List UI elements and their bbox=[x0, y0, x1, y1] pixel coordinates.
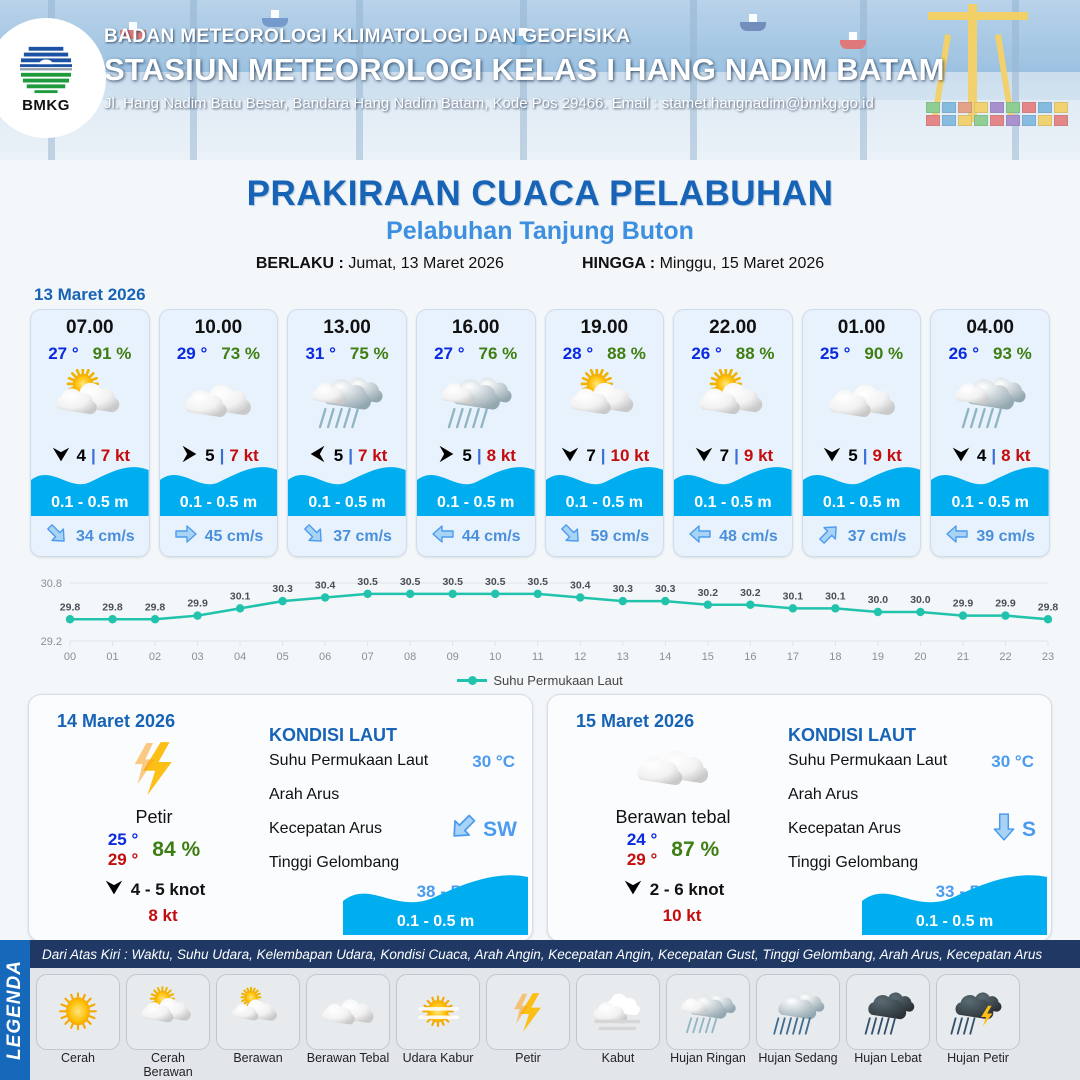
current-speed: 34 cm/s bbox=[76, 528, 135, 546]
sun-cloud-icon bbox=[126, 974, 210, 1050]
card-current-row: 48 cm/s bbox=[674, 522, 792, 551]
daily-forecast-panel: 14 Maret 2026 Petir25 °29 °84 %4 - 5 kno… bbox=[28, 694, 533, 942]
card-humidity: 90 % bbox=[864, 344, 903, 364]
svg-text:30.3: 30.3 bbox=[613, 583, 634, 595]
current-speed-row: Kecepatan Arus33 - 56 cm/s bbox=[788, 820, 1038, 854]
hingga-block: HINGGA : Minggu, 15 Maret 2026 bbox=[582, 255, 824, 273]
light-rain-icon bbox=[666, 974, 750, 1050]
partly-cloudy-icon bbox=[31, 367, 149, 435]
current-speed: 37 cm/s bbox=[333, 528, 392, 546]
svg-text:30.1: 30.1 bbox=[783, 590, 804, 602]
card-current-row: 39 cm/s bbox=[931, 522, 1049, 551]
moderate-rain-icon bbox=[756, 974, 840, 1050]
panel-wave-graphic: 0.1 - 0.5 m bbox=[862, 871, 1047, 935]
card-temperature: 26 ° bbox=[949, 344, 979, 364]
wave-height: 0.1 - 0.5 m bbox=[803, 462, 921, 516]
sst-value: 30 °C bbox=[472, 752, 515, 772]
svg-text:21: 21 bbox=[957, 651, 969, 663]
svg-text:08: 08 bbox=[404, 651, 416, 663]
wind-direction-arrow-icon bbox=[103, 876, 125, 903]
thunderstorm-rain-icon bbox=[936, 974, 1020, 1050]
svg-text:30.1: 30.1 bbox=[230, 590, 251, 602]
legend-item-label: Berawan Tebal bbox=[306, 1051, 390, 1065]
card-time: 13.00 bbox=[288, 317, 406, 339]
svg-text:13: 13 bbox=[617, 651, 629, 663]
svg-text:07: 07 bbox=[362, 651, 374, 663]
panel-gust: 10 kt bbox=[586, 906, 778, 926]
legend-item-label: Cerah Berawan bbox=[126, 1051, 210, 1079]
sun-icon bbox=[36, 974, 120, 1050]
panel-humidity: 84 % bbox=[152, 838, 200, 862]
wave-height: 0.1 - 0.5 m bbox=[31, 462, 149, 516]
legend-item: Berawan Tebal bbox=[306, 974, 390, 1079]
svg-text:04: 04 bbox=[234, 651, 246, 663]
current-speed: 59 cm/s bbox=[590, 528, 649, 546]
hourly-card: 22.0026 °88 % 7|9 kt0.1 - 0.5 m48 cm/s bbox=[673, 309, 793, 557]
station-name: STASIUN METEOROLOGI KELAS I HANG NADIM B… bbox=[104, 52, 1034, 88]
legend-section: LEGENDA Dari Atas Kiri : Waktu, Suhu Uda… bbox=[0, 940, 1080, 1080]
panel-wind-range: 4 - 5 knot bbox=[131, 880, 206, 900]
validity-row: BERLAKU : Jumat, 13 Maret 2026 HINGGA : … bbox=[0, 255, 1080, 273]
panel-temp-min: 25 ° bbox=[108, 830, 138, 850]
cloudy-icon bbox=[160, 367, 278, 435]
svg-text:30.3: 30.3 bbox=[655, 583, 676, 595]
svg-text:15: 15 bbox=[702, 651, 714, 663]
legend-item-label: Kabut bbox=[576, 1051, 660, 1065]
title-section: PRAKIRAAN CUACA PELABUHAN Pelabuhan Tanj… bbox=[0, 160, 1080, 273]
svg-text:30.3: 30.3 bbox=[272, 583, 293, 595]
berlaku-label: BERLAKU : bbox=[256, 255, 344, 272]
current-direction-arrow-icon bbox=[559, 522, 583, 551]
svg-text:29.8: 29.8 bbox=[145, 601, 166, 613]
hourly-card: 01.0025 °90 % 5|9 kt0.1 - 0.5 m37 cm/s bbox=[802, 309, 922, 557]
panel-humidity: 87 % bbox=[671, 838, 719, 862]
card-time: 04.00 bbox=[931, 317, 1049, 339]
svg-text:30.2: 30.2 bbox=[740, 587, 761, 599]
card-humidity: 91 % bbox=[93, 344, 132, 364]
card-temp-humidity: 31 °75 % bbox=[288, 344, 406, 364]
svg-text:18: 18 bbox=[829, 651, 841, 663]
svg-text:22: 22 bbox=[999, 651, 1011, 663]
current-direction-row: Arah ArusS bbox=[788, 786, 1038, 820]
svg-text:30.0: 30.0 bbox=[868, 594, 889, 606]
card-humidity: 88 % bbox=[736, 344, 775, 364]
panel-temp-min: 24 ° bbox=[627, 830, 657, 850]
cloud-sun-small-icon bbox=[216, 974, 300, 1050]
card-current-row: 45 cm/s bbox=[160, 522, 278, 551]
hourly-card: 19.0028 °88 % 7|10 kt0.1 - 0.5 m59 cm/s bbox=[545, 309, 665, 557]
lightning-icon bbox=[486, 974, 570, 1050]
svg-text:29.9: 29.9 bbox=[187, 598, 208, 610]
agency-name: BADAN METEOROLOGI KLIMATOLOGI DAN GEOFIS… bbox=[104, 26, 1034, 48]
legend-item-label: Hujan Petir bbox=[936, 1051, 1020, 1065]
current-speed: 44 cm/s bbox=[462, 528, 521, 546]
svg-text:06: 06 bbox=[319, 651, 331, 663]
legend-item-label: Cerah bbox=[36, 1051, 120, 1065]
daily-forecast-panel: 15 Maret 2026 Berawan tebal24 °29 °87 %2… bbox=[547, 694, 1052, 942]
legend-item-label: Hujan Ringan bbox=[666, 1051, 750, 1065]
legend-item: Hujan Ringan bbox=[666, 974, 750, 1079]
card-humidity: 93 % bbox=[993, 344, 1032, 364]
rain-icon bbox=[931, 367, 1049, 435]
svg-text:02: 02 bbox=[149, 651, 161, 663]
sst-value: 30 °C bbox=[991, 752, 1034, 772]
svg-text:01: 01 bbox=[106, 651, 118, 663]
svg-text:20: 20 bbox=[914, 651, 926, 663]
header-text-block: BADAN METEOROLOGI KLIMATOLOGI DAN GEOFIS… bbox=[104, 26, 1034, 112]
rain-icon bbox=[288, 367, 406, 435]
panel-temp-range: 24 °29 ° bbox=[627, 830, 657, 869]
legend-item-label: Petir bbox=[486, 1051, 570, 1065]
panel-temp-range: 25 °29 ° bbox=[108, 830, 138, 869]
current-direction-arrow-icon bbox=[45, 522, 69, 551]
card-temp-humidity: 28 °88 % bbox=[546, 344, 664, 364]
cloud-icon bbox=[306, 974, 390, 1050]
card-humidity: 88 % bbox=[607, 344, 646, 364]
svg-text:29.9: 29.9 bbox=[953, 598, 974, 610]
panel-temp-humidity: 25 °29 °84 % bbox=[49, 830, 259, 869]
panel-temp-max: 29 ° bbox=[627, 850, 657, 870]
sst-row: Suhu Permukaan Laut30 °C bbox=[788, 752, 1038, 786]
hourly-forecast-cards: 07.0027 °91 % 4|7 kt0.1 - 0.5 m34 cm/s10… bbox=[0, 309, 1080, 557]
panel-gust: 8 kt bbox=[67, 906, 259, 926]
bmkg-logo-text: BMKG bbox=[22, 97, 70, 114]
sst-row: Suhu Permukaan Laut30 °C bbox=[269, 752, 519, 786]
wave-height: 0.1 - 0.5 m bbox=[546, 462, 664, 516]
partly-cloudy-icon bbox=[674, 367, 792, 435]
sea-conditions-title: KONDISI LAUT bbox=[269, 725, 519, 746]
card-current-row: 37 cm/s bbox=[803, 522, 921, 551]
legend-strip-text: LEGENDA bbox=[4, 960, 26, 1060]
svg-text:09: 09 bbox=[447, 651, 459, 663]
svg-text:29.8: 29.8 bbox=[102, 601, 123, 613]
panel-wind-row: 2 - 6 knot bbox=[568, 876, 778, 903]
legend-item: Hujan Petir bbox=[936, 974, 1020, 1079]
panel-temp-humidity: 24 °29 °87 % bbox=[568, 830, 778, 869]
wind-direction-arrow-icon bbox=[622, 876, 644, 903]
partly-cloudy-icon bbox=[546, 367, 664, 435]
fog-icon bbox=[576, 974, 660, 1050]
card-temp-humidity: 29 °73 % bbox=[160, 344, 278, 364]
card-humidity: 75 % bbox=[350, 344, 389, 364]
card-temperature: 31 ° bbox=[305, 344, 335, 364]
card-temp-humidity: 27 °91 % bbox=[31, 344, 149, 364]
hingga-label: HINGGA : bbox=[582, 255, 655, 272]
svg-text:30.4: 30.4 bbox=[315, 580, 336, 592]
wave-height: 0.1 - 0.5 m bbox=[417, 462, 535, 516]
card-temperature: 25 ° bbox=[820, 344, 850, 364]
legend-item: Cerah bbox=[36, 974, 120, 1079]
legend-body: Dari Atas Kiri : Waktu, Suhu Udara, Kele… bbox=[30, 940, 1080, 1080]
current-speed: 39 cm/s bbox=[976, 528, 1035, 546]
card-current-row: 37 cm/s bbox=[288, 522, 406, 551]
sea-conditions-title: KONDISI LAUT bbox=[788, 725, 1038, 746]
svg-text:17: 17 bbox=[787, 651, 799, 663]
current-speed: 37 cm/s bbox=[848, 528, 907, 546]
wave-height: 0.1 - 0.5 m bbox=[674, 462, 792, 516]
haze-icon bbox=[396, 974, 480, 1050]
legend-item-label: Udara Kabur bbox=[396, 1051, 480, 1065]
svg-text:30.5: 30.5 bbox=[528, 576, 549, 588]
panel-sea-conditions: KONDISI LAUTSuhu Permukaan Laut30 °CArah… bbox=[269, 725, 519, 888]
hingga-value: Minggu, 15 Maret 2026 bbox=[660, 255, 825, 272]
card-time: 01.00 bbox=[803, 317, 921, 339]
card-humidity: 76 % bbox=[479, 344, 518, 364]
panel-wave-height: 0.1 - 0.5 m bbox=[862, 913, 1047, 931]
daily-forecast-panels: 14 Maret 2026 Petir25 °29 °84 %4 - 5 kno… bbox=[0, 688, 1080, 942]
current-direction-arrow-icon bbox=[431, 522, 455, 551]
panel-wind-row: 4 - 5 knot bbox=[49, 876, 259, 903]
panel-date: 14 Maret 2026 bbox=[57, 711, 175, 732]
current-speed-row: Kecepatan Arus38 - 59 cm/s bbox=[269, 820, 519, 854]
card-current-row: 34 cm/s bbox=[31, 522, 149, 551]
panel-condition: Petir bbox=[49, 807, 259, 828]
card-time: 16.00 bbox=[417, 317, 535, 339]
svg-text:29.2: 29.2 bbox=[41, 636, 62, 648]
legend-strip: LEGENDA bbox=[0, 940, 30, 1080]
berlaku-block: BERLAKU : Jumat, 13 Maret 2026 bbox=[256, 255, 504, 273]
cloudy-icon bbox=[803, 367, 921, 435]
svg-text:12: 12 bbox=[574, 651, 586, 663]
panel-wave-graphic: 0.1 - 0.5 m bbox=[343, 871, 528, 935]
legend-item: Berawan bbox=[216, 974, 300, 1079]
card-temperature: 27 ° bbox=[434, 344, 464, 364]
hourly-card: 10.0029 °73 % 5|7 kt0.1 - 0.5 m45 cm/s bbox=[159, 309, 279, 557]
panel-condition: Berawan tebal bbox=[568, 807, 778, 828]
sst-chart-svg: 30.829.200010203040506070809101112131415… bbox=[18, 567, 1062, 677]
hourly-card: 04.0026 °93 % 4|8 kt0.1 - 0.5 m39 cm/s bbox=[930, 309, 1050, 557]
current-direction-arrow-icon bbox=[688, 522, 712, 551]
card-temperature: 26 ° bbox=[691, 344, 721, 364]
svg-text:11: 11 bbox=[532, 651, 543, 663]
panel-wave-height: 0.1 - 0.5 m bbox=[343, 913, 528, 931]
legend-note: Dari Atas Kiri : Waktu, Suhu Udara, Kele… bbox=[30, 940, 1080, 968]
port-name: Pelabuhan Tanjung Buton bbox=[0, 217, 1080, 246]
panel-temp-max: 29 ° bbox=[108, 850, 138, 870]
svg-text:30.0: 30.0 bbox=[910, 594, 931, 606]
card-time: 07.00 bbox=[31, 317, 149, 339]
panel-left: Petir25 °29 °84 %4 - 5 knot8 kt bbox=[49, 731, 259, 926]
bmkg-emblem-icon bbox=[17, 43, 75, 95]
card-time: 10.00 bbox=[160, 317, 278, 339]
card-time: 19.00 bbox=[546, 317, 664, 339]
thunderstorm-icon bbox=[49, 731, 259, 805]
legend-item: Petir bbox=[486, 974, 570, 1079]
card-humidity: 73 % bbox=[221, 344, 260, 364]
card-time: 22.00 bbox=[674, 317, 792, 339]
legend-item-label: Hujan Sedang bbox=[756, 1051, 840, 1065]
panel-left: Berawan tebal24 °29 °87 %2 - 6 knot10 kt bbox=[568, 731, 778, 926]
svg-text:30.5: 30.5 bbox=[442, 576, 463, 588]
card-current-row: 59 cm/s bbox=[546, 522, 664, 551]
svg-text:30.8: 30.8 bbox=[41, 578, 62, 590]
current-direction-arrow-icon bbox=[302, 522, 326, 551]
legend-item: Udara Kabur bbox=[396, 974, 480, 1079]
cloudy-icon bbox=[568, 731, 778, 805]
svg-text:30.5: 30.5 bbox=[485, 576, 506, 588]
current-speed: 48 cm/s bbox=[719, 528, 778, 546]
svg-text:30.2: 30.2 bbox=[698, 587, 719, 599]
card-temperature: 28 ° bbox=[563, 344, 593, 364]
card-temperature: 27 ° bbox=[48, 344, 78, 364]
panel-date: 15 Maret 2026 bbox=[576, 711, 694, 732]
wave-height: 0.1 - 0.5 m bbox=[931, 462, 1049, 516]
current-direction-arrow-icon bbox=[945, 522, 969, 551]
svg-text:05: 05 bbox=[276, 651, 288, 663]
hourly-card: 13.0031 °75 % 5|7 kt0.1 - 0.5 m37 cm/s bbox=[287, 309, 407, 557]
hourly-card: 16.0027 °76 % 5|8 kt0.1 - 0.5 m44 cm/s bbox=[416, 309, 536, 557]
station-address: Jl. Hang Nadim Batu Besar, Bandara Hang … bbox=[104, 95, 1034, 112]
current-direction-arrow-icon bbox=[817, 522, 841, 551]
current-direction-arrow-icon bbox=[174, 522, 198, 551]
card-temperature: 29 ° bbox=[177, 344, 207, 364]
svg-text:30.5: 30.5 bbox=[357, 576, 378, 588]
svg-text:19: 19 bbox=[872, 651, 884, 663]
svg-text:23: 23 bbox=[1042, 651, 1054, 663]
svg-text:03: 03 bbox=[191, 651, 203, 663]
berlaku-value: Jumat, 13 Maret 2026 bbox=[348, 255, 504, 272]
wave-height: 0.1 - 0.5 m bbox=[160, 462, 278, 516]
legend-item: Kabut bbox=[576, 974, 660, 1079]
legend-item-label: Hujan Lebat bbox=[846, 1051, 930, 1065]
svg-text:30.4: 30.4 bbox=[570, 580, 591, 592]
card-temp-humidity: 25 °90 % bbox=[803, 344, 921, 364]
hourly-date-label: 13 Maret 2026 bbox=[34, 285, 1080, 305]
legend-item: Hujan Sedang bbox=[756, 974, 840, 1079]
sst-chart: 30.829.200010203040506070809101112131415… bbox=[18, 567, 1062, 677]
card-temp-humidity: 27 °76 % bbox=[417, 344, 535, 364]
chart-legend-marker-icon bbox=[457, 679, 487, 682]
svg-text:10: 10 bbox=[489, 651, 501, 663]
rain-icon bbox=[417, 367, 535, 435]
panel-wind-range: 2 - 6 knot bbox=[650, 880, 725, 900]
panel-sea-conditions: KONDISI LAUTSuhu Permukaan Laut30 °CArah… bbox=[788, 725, 1038, 888]
svg-text:29.9: 29.9 bbox=[995, 598, 1016, 610]
card-current-row: 44 cm/s bbox=[417, 522, 535, 551]
card-temp-humidity: 26 °88 % bbox=[674, 344, 792, 364]
legend-items: Cerah Cerah Berawan Berawan Berawan Teba… bbox=[30, 968, 1080, 1079]
svg-text:30.5: 30.5 bbox=[400, 576, 421, 588]
hourly-card: 07.0027 °91 % 4|7 kt0.1 - 0.5 m34 cm/s bbox=[30, 309, 150, 557]
current-direction-row: Arah ArusSW bbox=[269, 786, 519, 820]
page-header: BMKG BADAN METEOROLOGI KLIMATOLOGI DAN G… bbox=[0, 0, 1080, 160]
svg-text:16: 16 bbox=[744, 651, 756, 663]
svg-text:00: 00 bbox=[64, 651, 76, 663]
svg-text:29.8: 29.8 bbox=[60, 601, 81, 613]
svg-text:14: 14 bbox=[659, 651, 671, 663]
current-speed: 45 cm/s bbox=[205, 528, 264, 546]
legend-item: Hujan Lebat bbox=[846, 974, 930, 1079]
legend-item-label: Berawan bbox=[216, 1051, 300, 1065]
legend-item: Cerah Berawan bbox=[126, 974, 210, 1079]
wave-height: 0.1 - 0.5 m bbox=[288, 462, 406, 516]
svg-text:29.8: 29.8 bbox=[1038, 601, 1059, 613]
card-temp-humidity: 26 °93 % bbox=[931, 344, 1049, 364]
heavy-rain-icon bbox=[846, 974, 930, 1050]
svg-text:30.1: 30.1 bbox=[825, 590, 846, 602]
page-title: PRAKIRAAN CUACA PELABUHAN bbox=[0, 174, 1080, 214]
